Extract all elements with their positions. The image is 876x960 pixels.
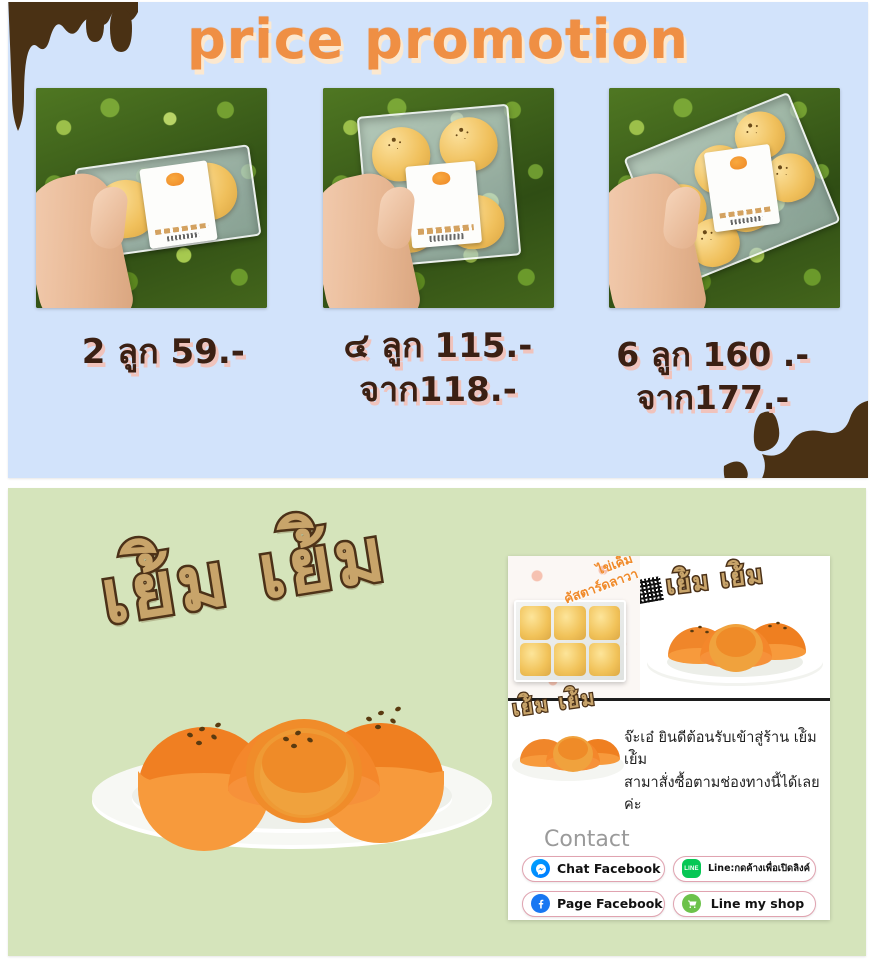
- price-promotion-panel: price promotion: [8, 2, 868, 478]
- hero-plate-illustration: [640, 582, 830, 692]
- custard-bun-plate-illustration: [86, 653, 498, 853]
- brand-panel: เย้ิม เย้ิม: [8, 488, 866, 956]
- contact-heading: Contact: [508, 823, 830, 856]
- button-label: Chat Facebook: [557, 861, 660, 876]
- hero-illustration: เย้ิม เย้ิม: [640, 556, 830, 698]
- button-label: Page Facebook: [557, 896, 663, 911]
- hand: [36, 168, 137, 308]
- price-row: 2 ลูก 59.- ๔ ลูก 115.- จาก118.- 6 ลูก 16…: [8, 324, 868, 420]
- line-icon: LINE: [682, 859, 701, 878]
- welcome-line-2: สามาสั่งซื้อตามช่องทางนี้ได้เลยค่ะ: [624, 772, 820, 817]
- price-main: 6 ลูก 160 .-: [575, 334, 850, 377]
- button-label: Line:กดค้างเพื่อเปิดลิงค์: [708, 861, 810, 876]
- hero-product-photo: ไข่เค็มคัสตาร์ดลาวา: [508, 556, 640, 698]
- price-was: จาก177.-: [575, 377, 850, 420]
- price-main: ๔ ลูก 115.-: [301, 324, 576, 368]
- price-option-2-pack: 2 ลูก 59.-: [26, 324, 301, 420]
- button-label: Line my shop: [708, 896, 807, 911]
- card-hero: ไข่เค็มคัสตาร์ดลาวา เย้ิม เย้ิม: [508, 556, 830, 698]
- contact-button-grid: Chat Facebook LINE Line:กดค้างเพื่อเปิดล…: [508, 856, 830, 920]
- brand-wordmark: เย้ิม เย้ิม: [93, 494, 397, 656]
- page-title: price promotion: [8, 8, 868, 71]
- messenger-icon: [531, 859, 550, 878]
- line-shop-icon: [682, 894, 701, 913]
- chat-facebook-button[interactable]: Chat Facebook: [522, 856, 665, 882]
- price-option-6-pack: 6 ลูก 160 .- จาก177.-: [575, 324, 850, 420]
- price-main: 2 ลูก 59.-: [26, 330, 301, 374]
- bun-box-photo: [514, 600, 626, 682]
- product-photo-4-pack: [323, 88, 554, 308]
- price-was: จาก118.-: [301, 368, 576, 412]
- facebook-icon: [531, 894, 550, 913]
- contact-card: ไข่เค็มคัสตาร์ดลาวา เย้ิม เย้ิม: [508, 556, 830, 920]
- line-my-shop-button[interactable]: Line my shop: [673, 891, 816, 917]
- line-link-button[interactable]: LINE Line:กดค้างเพื่อเปิดลิงค์: [673, 856, 816, 882]
- hand: [323, 168, 424, 308]
- product-photo-row: [8, 88, 868, 308]
- price-option-4-pack: ๔ ลูก 115.- จาก118.-: [301, 324, 576, 420]
- hand: [609, 168, 710, 308]
- product-photo-6-pack: [609, 88, 840, 308]
- welcome-line-1: จ๊ะเอ๋ ยินดีต้อนรับเข้าสู่ร้าน เย้ิม เย้…: [624, 727, 820, 772]
- product-photo-2-pack: [36, 88, 267, 308]
- page-facebook-button[interactable]: Page Facebook: [522, 891, 665, 917]
- card-lower: เย้ิม เย้ิม จ๊ะเอ๋ ยินดีต้อนรับเข้าสู่ร้…: [508, 701, 830, 920]
